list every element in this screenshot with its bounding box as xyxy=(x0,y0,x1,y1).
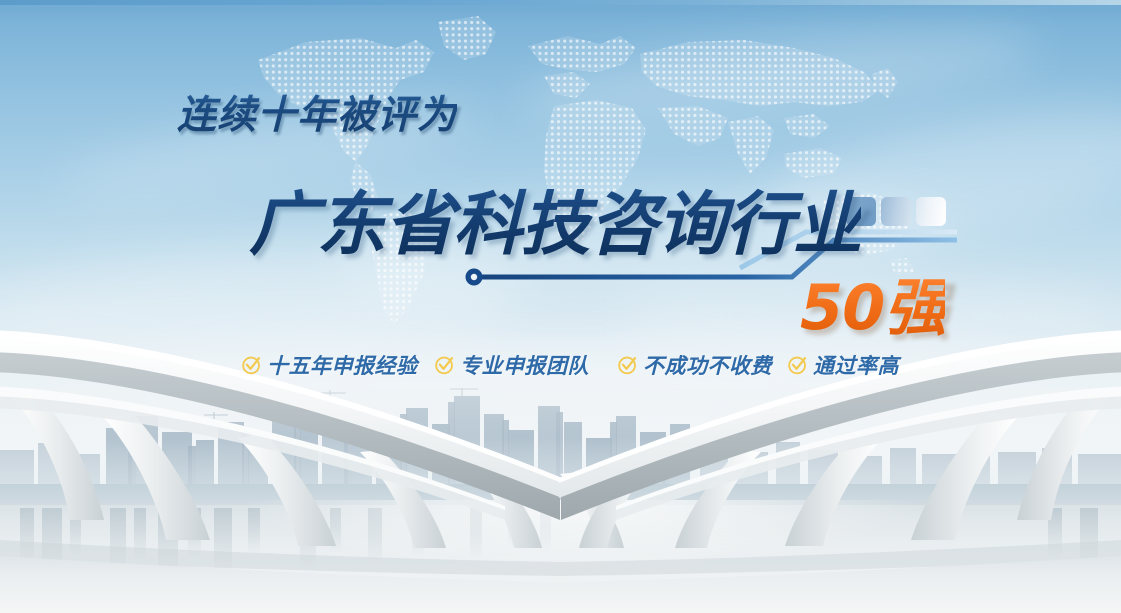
feature-label: 通过率高 xyxy=(813,350,899,380)
promo-banner: 连续十年被评为 连续十年被评为 广东省科技咨询行业 广东省科技咨询行业 50强 … xyxy=(0,0,1121,613)
check-circle-icon xyxy=(787,354,809,376)
kicker-text: 连续十年被评为 xyxy=(177,84,457,140)
reflective-floor xyxy=(0,505,1121,613)
sky-top-strip xyxy=(0,0,1121,5)
check-circle-icon xyxy=(434,354,456,376)
decor-square-mid xyxy=(881,197,911,226)
check-circle-icon xyxy=(241,354,263,376)
feature-item-no-success-no-fee: 不成功不收费 xyxy=(617,350,772,380)
check-circle-icon xyxy=(617,354,639,376)
page-title: 广东省科技咨询行业 xyxy=(249,168,861,268)
feature-item-high-pass-rate: 通过率高 xyxy=(787,350,899,380)
feature-list: 十五年申报经验 专业申报团队 不成功不收费 通过率高 xyxy=(0,348,1121,382)
feature-label: 不成功不收费 xyxy=(643,350,772,380)
feature-label: 专业申报团队 xyxy=(460,350,589,380)
feature-label: 十五年申报经验 xyxy=(267,350,418,380)
feature-item-team: 专业申报团队 xyxy=(434,350,589,380)
rank-badge: 50强 xyxy=(800,257,945,347)
feature-item-experience: 十五年申报经验 xyxy=(241,350,418,380)
decor-square-light xyxy=(916,197,946,226)
